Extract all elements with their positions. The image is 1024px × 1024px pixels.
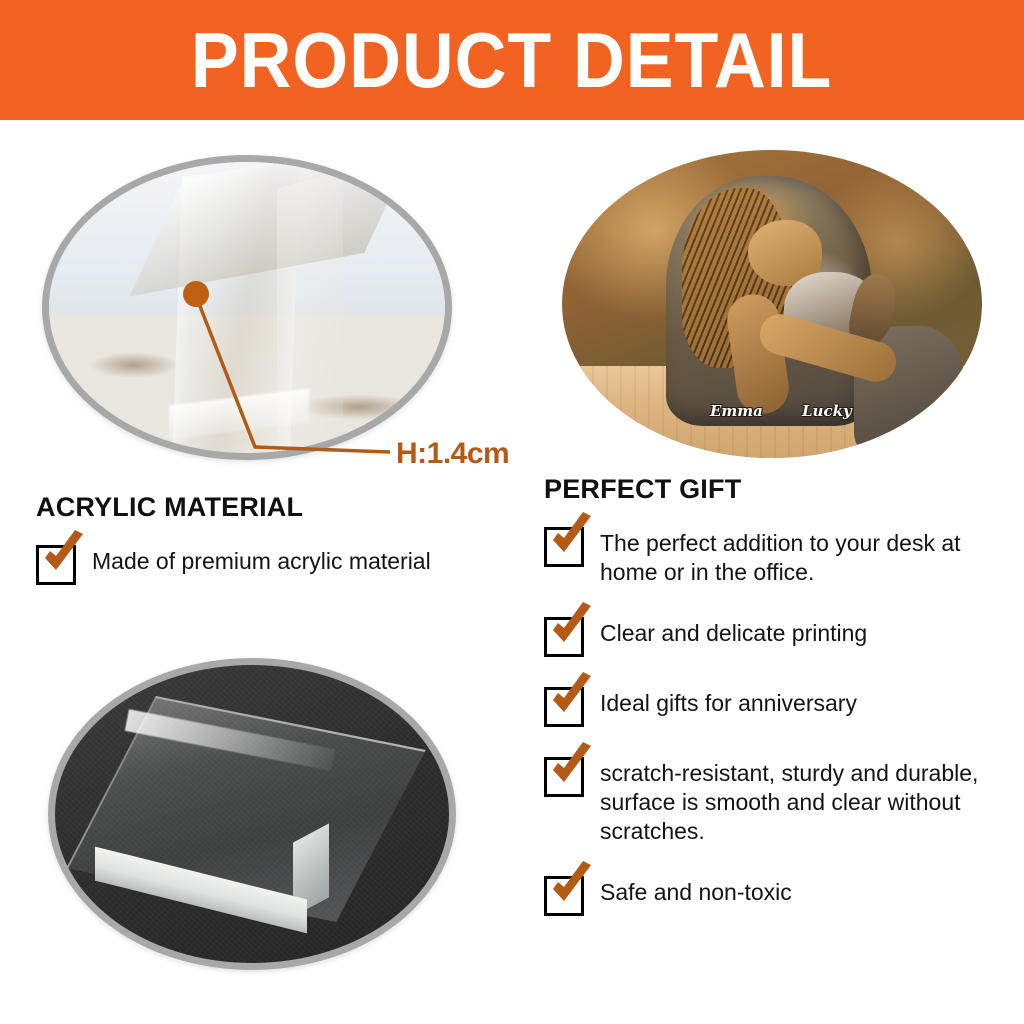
list-item-label: The perfect addition to your desk at hom… — [600, 523, 996, 587]
checkbox-checked-icon — [544, 757, 584, 797]
list-item: Made of premium acrylic material — [36, 541, 526, 585]
checkbox-checked-icon — [544, 617, 584, 657]
list-item: The perfect addition to your desk at hom… — [544, 523, 996, 587]
sculpture-figure — [666, 176, 872, 426]
list-item-label: Ideal gifts for anniversary — [600, 683, 857, 718]
perfect-gift-heading: PERFECT GIFT — [544, 474, 996, 505]
list-item: scratch-resistant, sturdy and durable, s… — [544, 753, 996, 846]
height-callout-label: H:1.4cm — [396, 437, 509, 471]
acrylic-edge-on-wood-photo — [42, 155, 452, 460]
engraved-name-right: Lucky — [802, 402, 852, 420]
perfect-gift-feature-list: The perfect addition to your desk at hom… — [544, 523, 996, 916]
engraved-name-left: Emma — [710, 402, 763, 420]
list-item: Clear and delicate printing — [544, 613, 996, 657]
list-item-label: scratch-resistant, sturdy and durable, s… — [600, 753, 996, 846]
list-item-label: Safe and non-toxic — [600, 872, 792, 907]
checkbox-checked-icon — [544, 687, 584, 727]
checkbox-checked-icon — [544, 527, 584, 567]
girl-hugging-dog-sculpture-photo: Emma Lucky — [562, 150, 982, 458]
page-title: PRODUCT DETAIL — [191, 21, 832, 99]
list-item-label: Made of premium acrylic material — [92, 541, 431, 576]
acrylic-material-section: ACRYLIC MATERIAL Made of premium acrylic… — [36, 492, 526, 585]
list-item: Safe and non-toxic — [544, 872, 996, 916]
wood-knot — [89, 352, 179, 378]
list-item-label: Clear and delicate printing — [600, 613, 867, 648]
acrylic-material-heading: ACRYLIC MATERIAL — [36, 492, 526, 523]
checkbox-checked-icon — [36, 545, 76, 585]
acrylic-material-feature-list: Made of premium acrylic material — [36, 541, 526, 585]
header-banner: PRODUCT DETAIL — [0, 0, 1024, 120]
acrylic-block-on-slate-photo — [48, 658, 456, 970]
list-item: Ideal gifts for anniversary — [544, 683, 996, 727]
checkbox-checked-icon — [544, 876, 584, 916]
perfect-gift-section: PERFECT GIFT The perfect addition to you… — [544, 474, 996, 942]
